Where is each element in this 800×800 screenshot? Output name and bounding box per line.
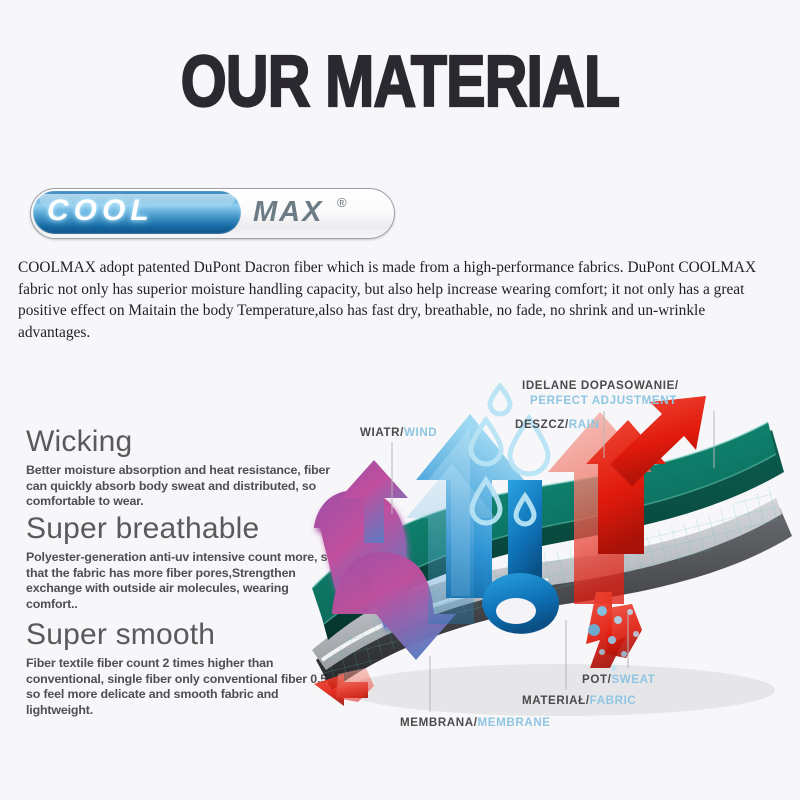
feature-body: Polyester-generation anti-uv intensive c… <box>26 550 336 612</box>
feature-body: Better moisture absorption and heat resi… <box>26 463 336 510</box>
label-pl: MATERIAŁ/ <box>522 694 590 707</box>
title-band: OUR MATERIAL <box>0 0 800 150</box>
label-pl: DESZCZ/ <box>515 418 569 431</box>
label-en: PERFECT ADJUSTMENT <box>530 394 677 407</box>
registered-trademark-icon: ® <box>337 195 347 210</box>
label-en: SWEAT <box>611 673 655 686</box>
label-en: WIND <box>404 426 437 439</box>
intro-paragraph: COOLMAX adopt patented DuPont Dacron fib… <box>18 257 780 343</box>
label-en: MEMBRANE <box>478 716 551 729</box>
diagram-label-sweat: POT/SWEAT <box>582 673 655 686</box>
feature-title: Super smooth <box>26 617 336 652</box>
label-pl: WIATR/ <box>360 426 404 439</box>
label-en: FABRIC <box>590 694 637 707</box>
diagram-label-fabric: MATERIAŁ/FABRIC <box>522 694 636 707</box>
feature-title: Wicking <box>26 424 336 459</box>
diagram-label-wind: WIATR/WIND <box>360 426 437 439</box>
diagram-label-membrane: MEMBRANA/MEMBRANE <box>400 716 551 729</box>
diagram-label-perfect-adjustment-en: PERFECT ADJUSTMENT <box>530 394 677 407</box>
diagram-label-perfect-adjustment-pl: IDELANE DOPASOWANIE/ <box>522 379 679 392</box>
feature-title: Super breathable <box>26 511 336 546</box>
logo-max-text: MAX <box>253 195 323 229</box>
coolmax-logo: COOL MAX ® <box>30 188 395 239</box>
diagram-label-rain: DESZCZ/RAIN <box>515 418 600 431</box>
label-pl: POT/ <box>582 673 611 686</box>
page-title: OUR MATERIAL <box>72 44 728 120</box>
label-pl: MEMBRANA/ <box>400 716 478 729</box>
fabric-layers-diagram: IDELANE DOPASOWANIE/ PERFECT ADJUSTMENT … <box>310 368 800 758</box>
label-en: RAIN <box>569 418 600 431</box>
label-pl: IDELANE DOPASOWANIE/ <box>522 379 679 392</box>
feature-block-super-smooth: Super smooth Fiber textile fiber count 2… <box>26 617 336 718</box>
material-info-page: OUR MATERIAL COOL MAX ® COOLMAX adopt pa… <box>0 0 800 800</box>
feature-body: Fiber textile fiber count 2 times higher… <box>26 656 336 718</box>
diagram-ground-shadow <box>345 664 775 716</box>
moisture-loop <box>482 573 559 634</box>
logo-cool-text: COOL <box>47 193 237 229</box>
feature-block-super-breathable: Super breathable Polyester-generation an… <box>26 511 336 612</box>
feature-block-wicking: Wicking Better moisture absorption and h… <box>26 424 336 510</box>
